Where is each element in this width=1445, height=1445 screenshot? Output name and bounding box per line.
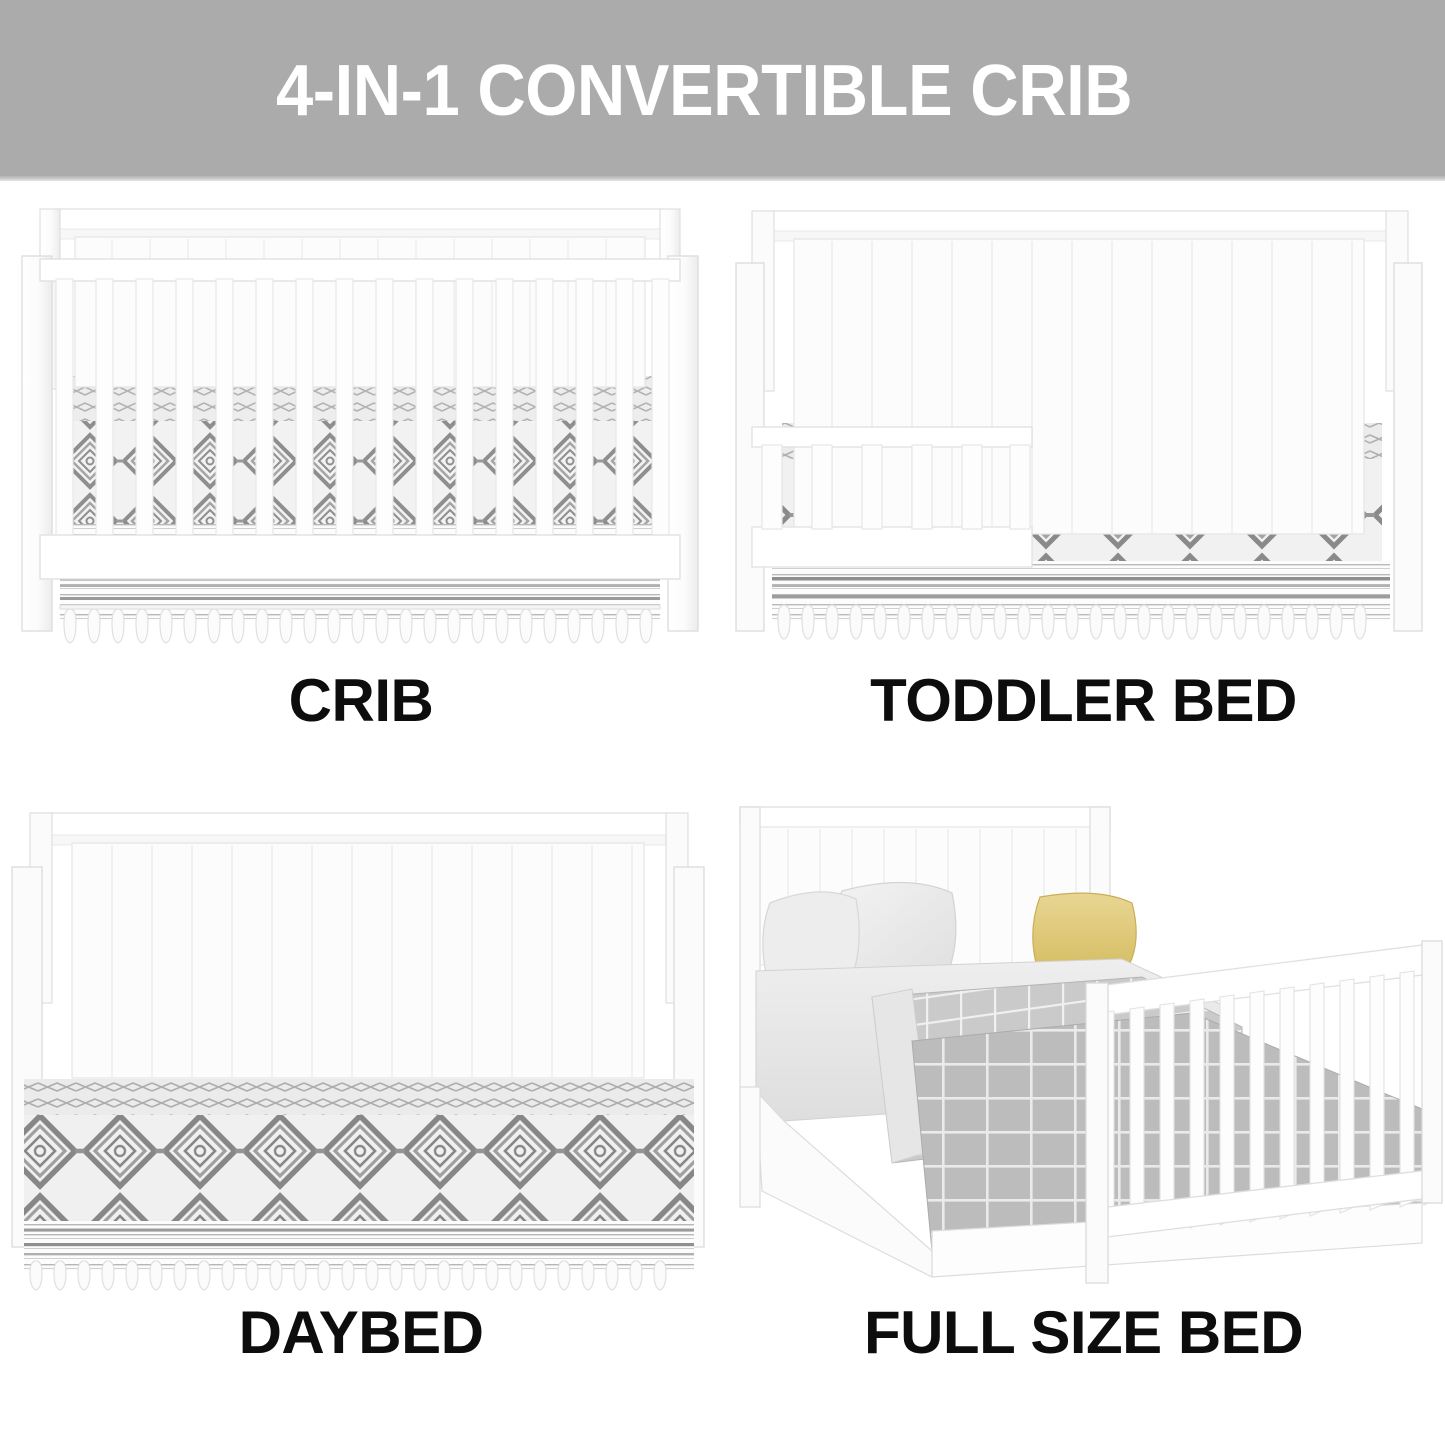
header-banner: 4-IN-1 CONVERTIBLE CRIB <box>0 0 1445 181</box>
caption-crib: CRIB <box>0 671 722 731</box>
caption-daybed: DAYBED <box>0 1303 722 1363</box>
configuration-card-crib[interactable]: CRIB <box>0 191 722 791</box>
caption-toddler-bed: TODDLER BED <box>722 671 1445 731</box>
configuration-grid: CRIB <box>0 181 1445 1445</box>
configuration-card-toddler-bed[interactable]: TODDLER BED <box>722 191 1445 791</box>
daybed-photo <box>0 791 722 1291</box>
configuration-card-full-size-bed[interactable]: FULL SIZE BED <box>722 791 1445 1431</box>
caption-full-size-bed: FULL SIZE BED <box>722 1303 1445 1363</box>
toddler-bed-photo <box>722 191 1445 661</box>
full-size-bed-photo <box>722 791 1445 1291</box>
crib-photo <box>0 191 722 661</box>
configuration-card-daybed[interactable]: DAYBED <box>0 791 722 1431</box>
page-title: 4-IN-1 CONVERTIBLE CRIB <box>276 55 1132 127</box>
